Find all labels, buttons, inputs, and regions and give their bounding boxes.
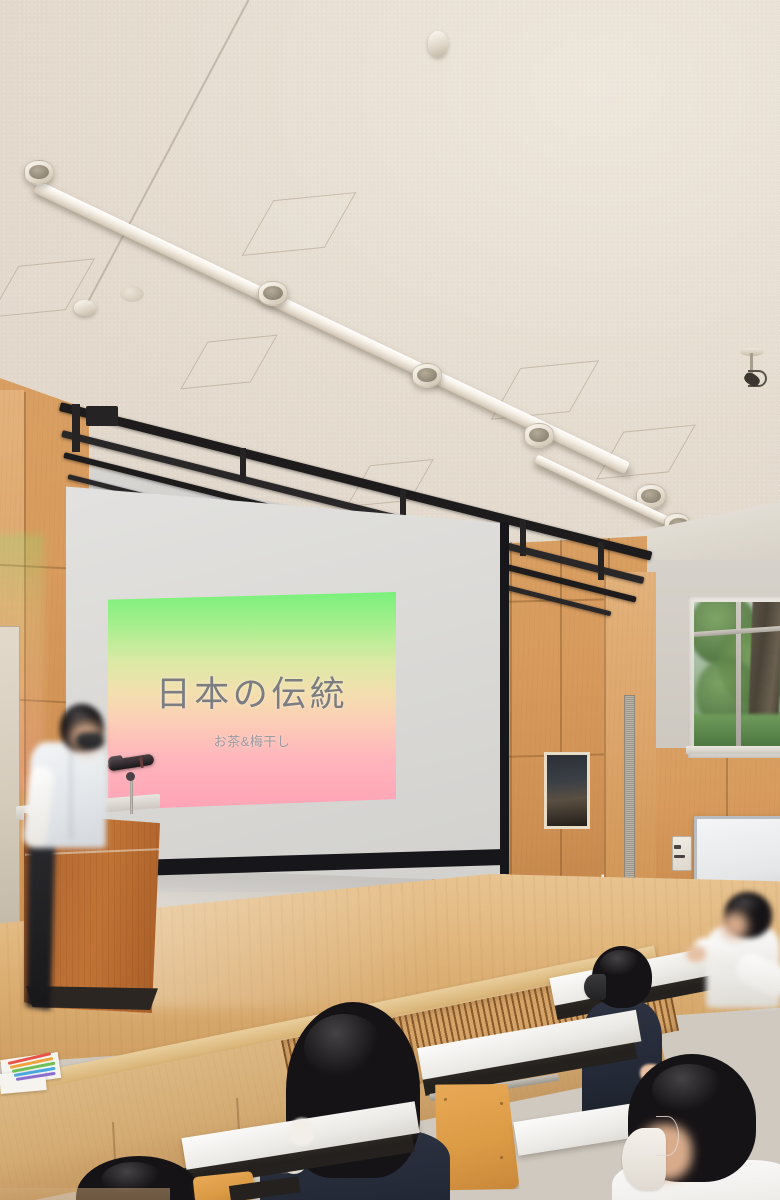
track-bracket	[520, 520, 526, 556]
control-panel-label	[674, 855, 685, 858]
presenter-mask	[76, 732, 104, 750]
student-hair-highlight	[304, 1014, 384, 1082]
wood-panel-seam	[560, 540, 562, 908]
left-wall-door	[0, 626, 20, 928]
student-hair-highlight	[600, 950, 642, 978]
student-hand	[686, 946, 706, 962]
cylindrical-downlight	[412, 363, 442, 388]
slide-subtitle: お茶&梅干し	[214, 731, 291, 750]
floor-below-stage	[0, 1188, 170, 1200]
screen-right-edge	[500, 522, 509, 874]
track-bracket	[72, 404, 80, 452]
cylindrical-downlight	[24, 160, 54, 185]
presenter-trousers	[26, 820, 56, 1010]
track-bracket	[598, 542, 604, 580]
smoke-detector	[74, 300, 96, 316]
wall-projection-booth-window	[544, 752, 590, 829]
track-motor-box	[86, 406, 118, 426]
student-face	[722, 912, 748, 938]
wall-speaker-strip	[624, 695, 635, 907]
cylindrical-downlight	[524, 423, 554, 448]
presenter-shirt-placket	[70, 748, 72, 840]
chair-fastener	[500, 1102, 503, 1105]
wall-control-panel[interactable]	[672, 836, 692, 871]
student-mask	[584, 974, 606, 1000]
student-hair-highlight	[652, 1064, 726, 1116]
wood-panel-seam	[510, 542, 512, 908]
held-white-object	[290, 1118, 314, 1146]
student-front-right	[618, 1054, 780, 1200]
recessed-downlight	[120, 286, 144, 302]
presenter	[24, 700, 154, 1020]
window-sill	[686, 746, 780, 754]
smoke-detector	[428, 31, 448, 57]
lecture-hall-photo: 日本の伝統 お茶&梅干し	[0, 0, 780, 1200]
track-bracket	[240, 448, 246, 482]
chair-fastener	[500, 1156, 503, 1159]
student-front-left	[276, 1002, 456, 1200]
slide-title: 日本の伝統	[156, 666, 349, 717]
student-mask-earloop	[656, 1116, 679, 1156]
wood-panel-seam	[604, 572, 606, 920]
window-mullion-vertical	[736, 602, 741, 750]
control-panel-label	[674, 845, 681, 849]
cylindrical-downlight	[258, 281, 288, 306]
